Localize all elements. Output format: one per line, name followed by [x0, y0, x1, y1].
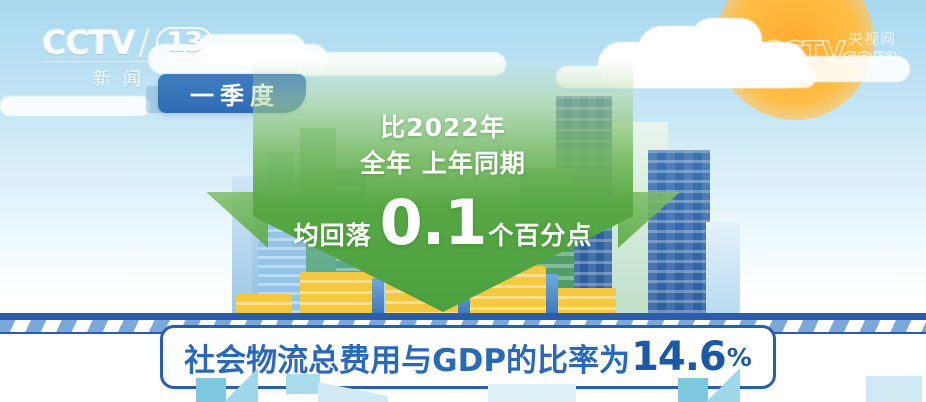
cloud-icon	[690, 18, 762, 62]
box-front-face	[678, 378, 708, 402]
box-side-face	[488, 384, 576, 402]
cctv-logo-icon: CCTV / 13	[42, 26, 192, 59]
box-side-face	[866, 376, 922, 402]
decline-unit: 个百分点	[488, 216, 592, 252]
comparison-line-1: 比2022年	[253, 108, 633, 144]
package-box-icon	[678, 368, 740, 402]
infographic-canvas: CCTV / 13 新闻 CCTV com 央视网	[0, 0, 926, 402]
decline-value: 0.1	[380, 195, 487, 251]
package-box-icon	[196, 368, 258, 402]
comparison-line-2: 全年 上年同期	[253, 144, 633, 180]
arrow-text-block: 比2022年 全年 上年同期 均回落 0.1 个百分点	[253, 60, 633, 312]
channel-number: 13	[156, 27, 214, 58]
package-box-icon	[286, 372, 386, 402]
cctv-wordmark: CCTV	[42, 26, 135, 59]
window-grid	[648, 150, 710, 318]
box-top-face	[224, 368, 258, 402]
logo-slash: /	[139, 26, 149, 59]
package-box-icon	[866, 372, 922, 402]
building-windows	[648, 150, 710, 318]
box-top-face	[706, 368, 740, 402]
decline-statement: 均回落 0.1 个百分点	[253, 195, 633, 252]
watermark-cn-text: 央视网	[848, 28, 896, 49]
box-side-face	[318, 382, 388, 402]
decline-prefix: 均回落	[294, 216, 372, 252]
building	[706, 222, 740, 318]
box-front-face	[286, 374, 320, 394]
cctv-com-watermark: CCTV com 央视网	[761, 36, 898, 71]
watermark-cctv-text: CCTV	[761, 36, 845, 71]
package-box-icon	[488, 376, 576, 402]
box-front-face	[196, 378, 226, 402]
